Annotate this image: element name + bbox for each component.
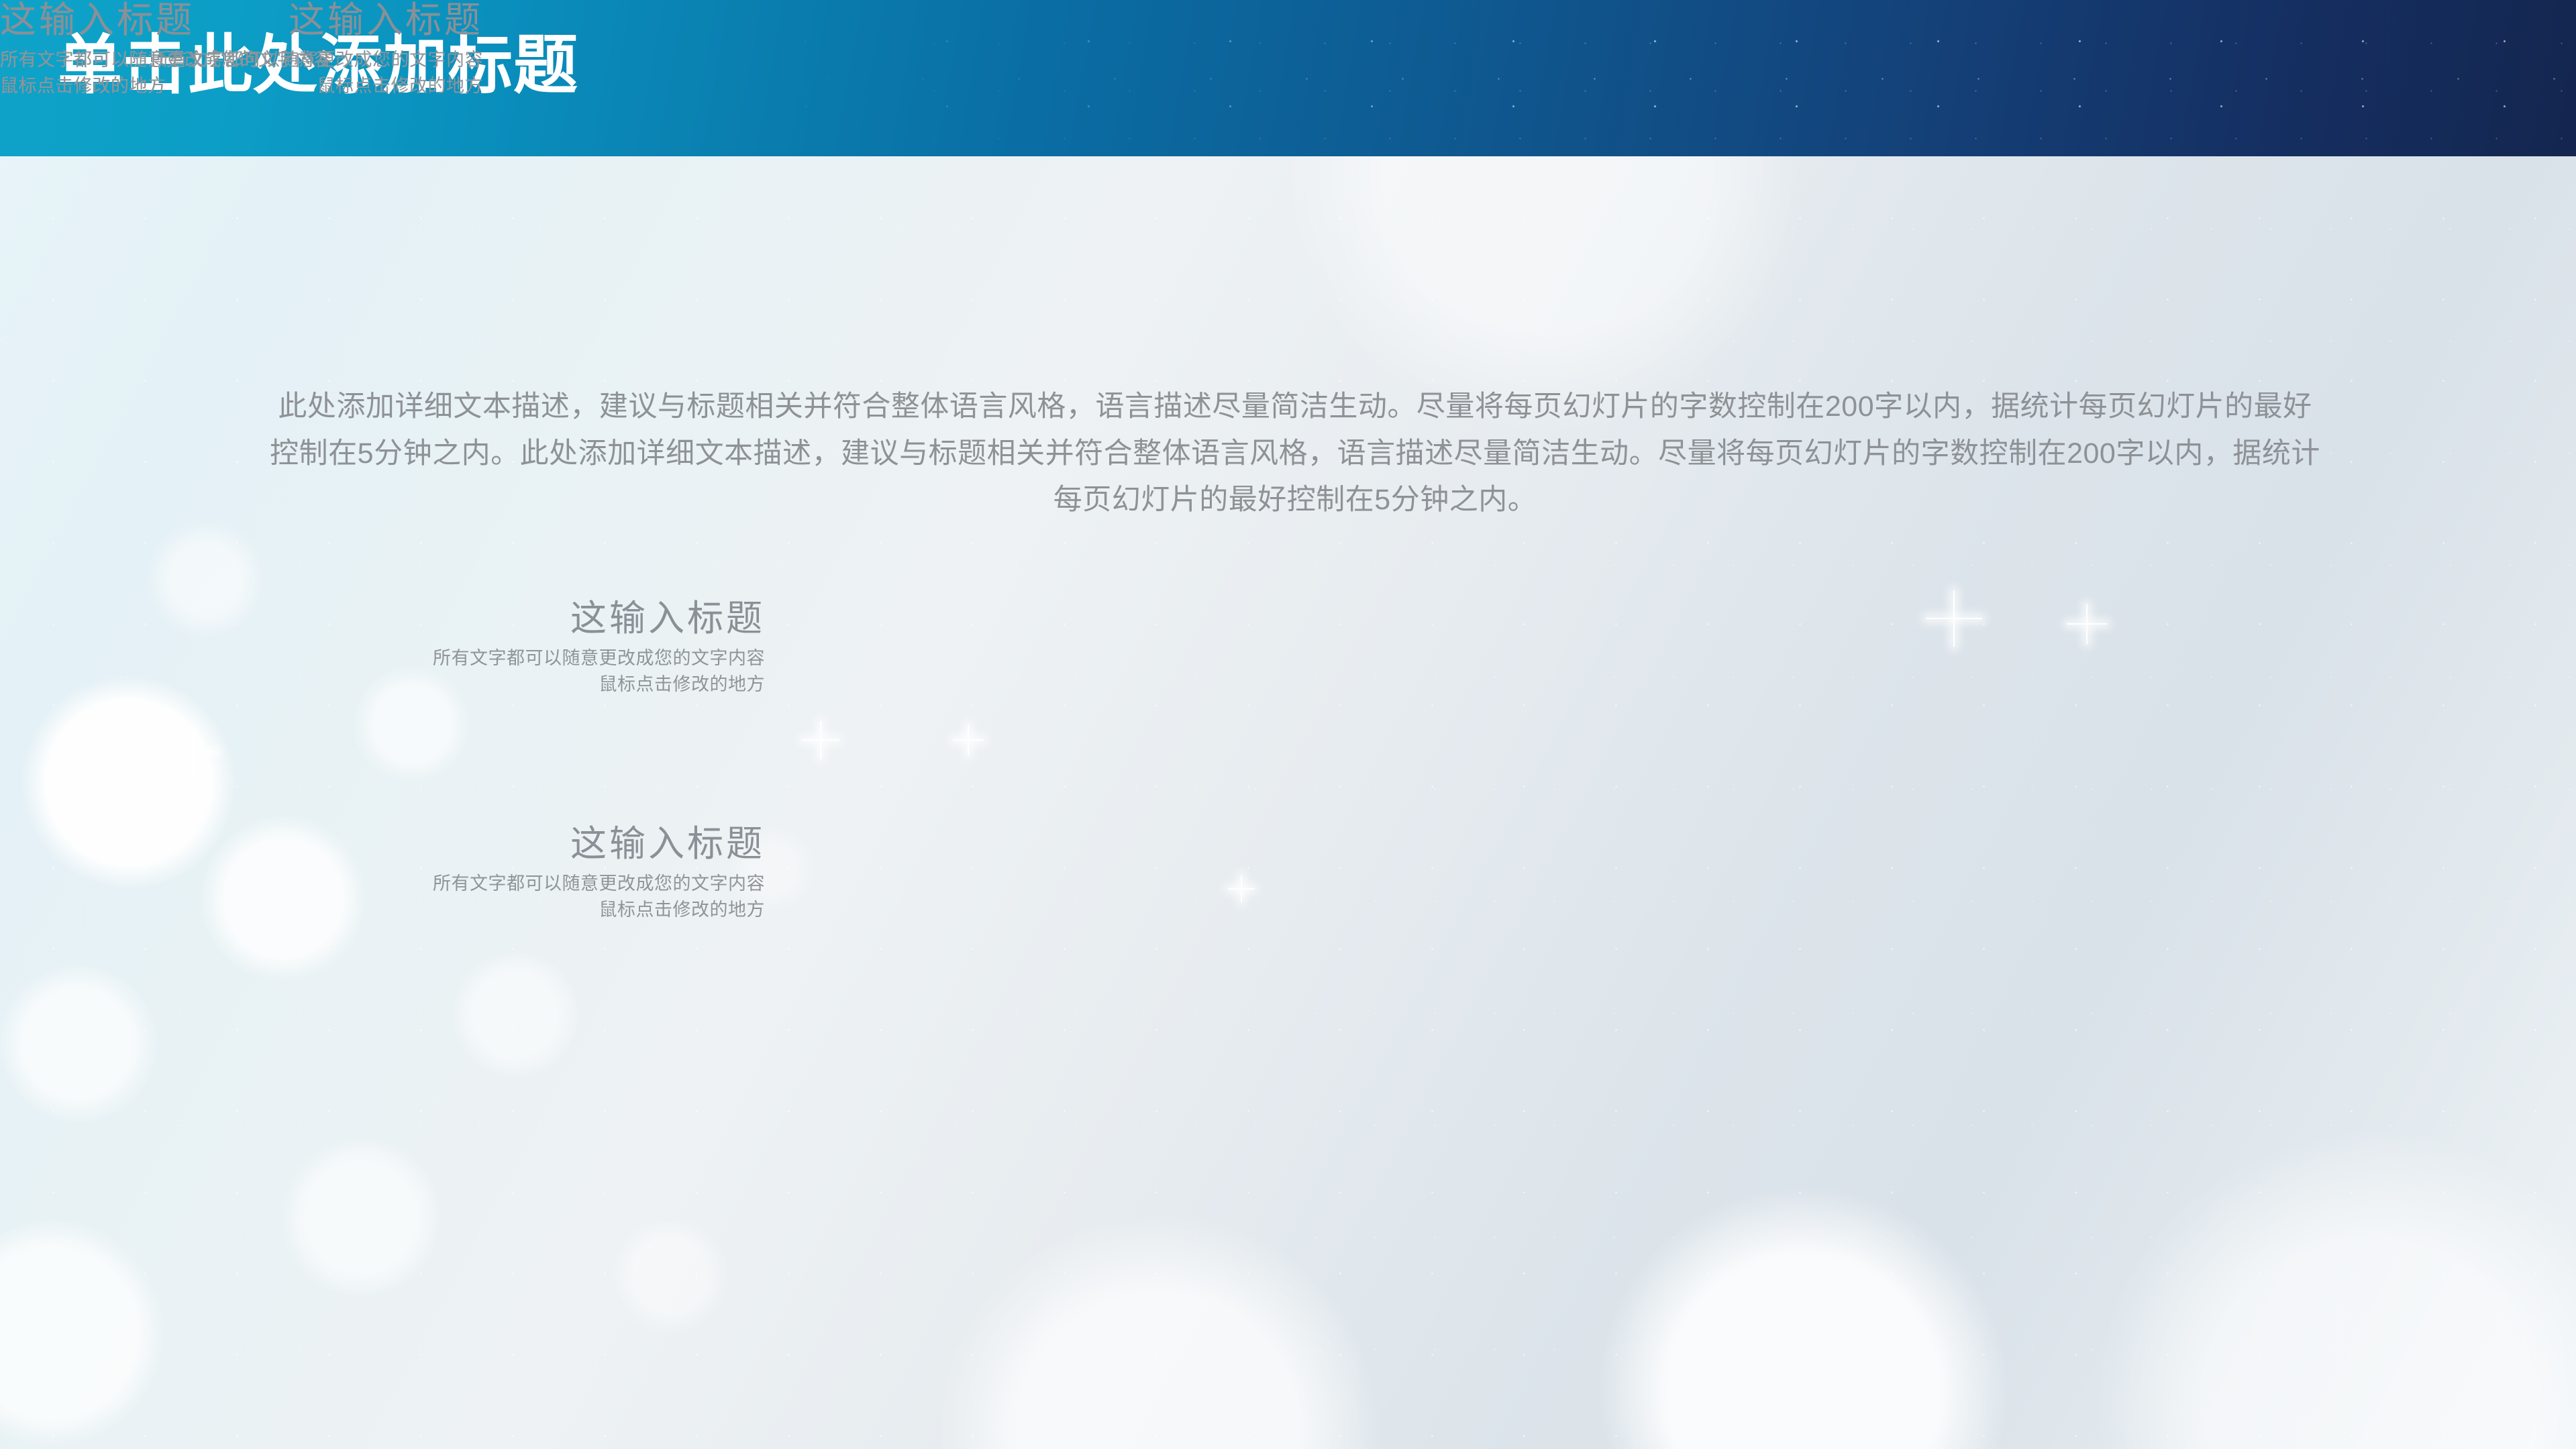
background-sparkles (0, 0, 2576, 1449)
label-desc-line1: 所有文字都可以随意更改成您的文字内容 (0, 47, 483, 72)
label-desc-line2: 鼠标点击修改的地方 (0, 73, 483, 99)
label-desc-line2: 鼠标点击修改的地方 (282, 672, 765, 697)
label-title: 这输入标题 (282, 824, 765, 864)
label-block-left-1[interactable]: 这输入标题 所有文字都可以随意更改成您的文字内容 鼠标点击修改的地方 (282, 598, 765, 697)
label-title: 这输入标题 (282, 598, 765, 639)
label-desc-line2: 鼠标点击修改的地方 (282, 897, 765, 922)
label-desc-line1: 所有文字都可以随意更改成您的文字内容 (282, 871, 765, 896)
intro-paragraph: 此处添加详细文本描述，建议与标题相关并符合整体语言风格，语言描述尽量简洁生动。尽… (268, 384, 2322, 524)
label-title: 这输入标题 (0, 0, 483, 40)
slide-canvas: 单击此处添加标题 此处添加详细文本描述，建议与标题相关并符合整体语言风格，语言描… (0, 0, 2576, 1449)
label-desc-line1: 所有文字都可以随意更改成您的文字内容 (282, 645, 765, 671)
label-block-left-2[interactable]: 这输入标题 所有文字都可以随意更改成您的文字内容 鼠标点击修改的地方 (282, 824, 765, 922)
label-block-right-3[interactable]: 这输入标题 所有文字都可以随意更改成您的文字内容 鼠标点击修改的地方 (0, 0, 483, 99)
